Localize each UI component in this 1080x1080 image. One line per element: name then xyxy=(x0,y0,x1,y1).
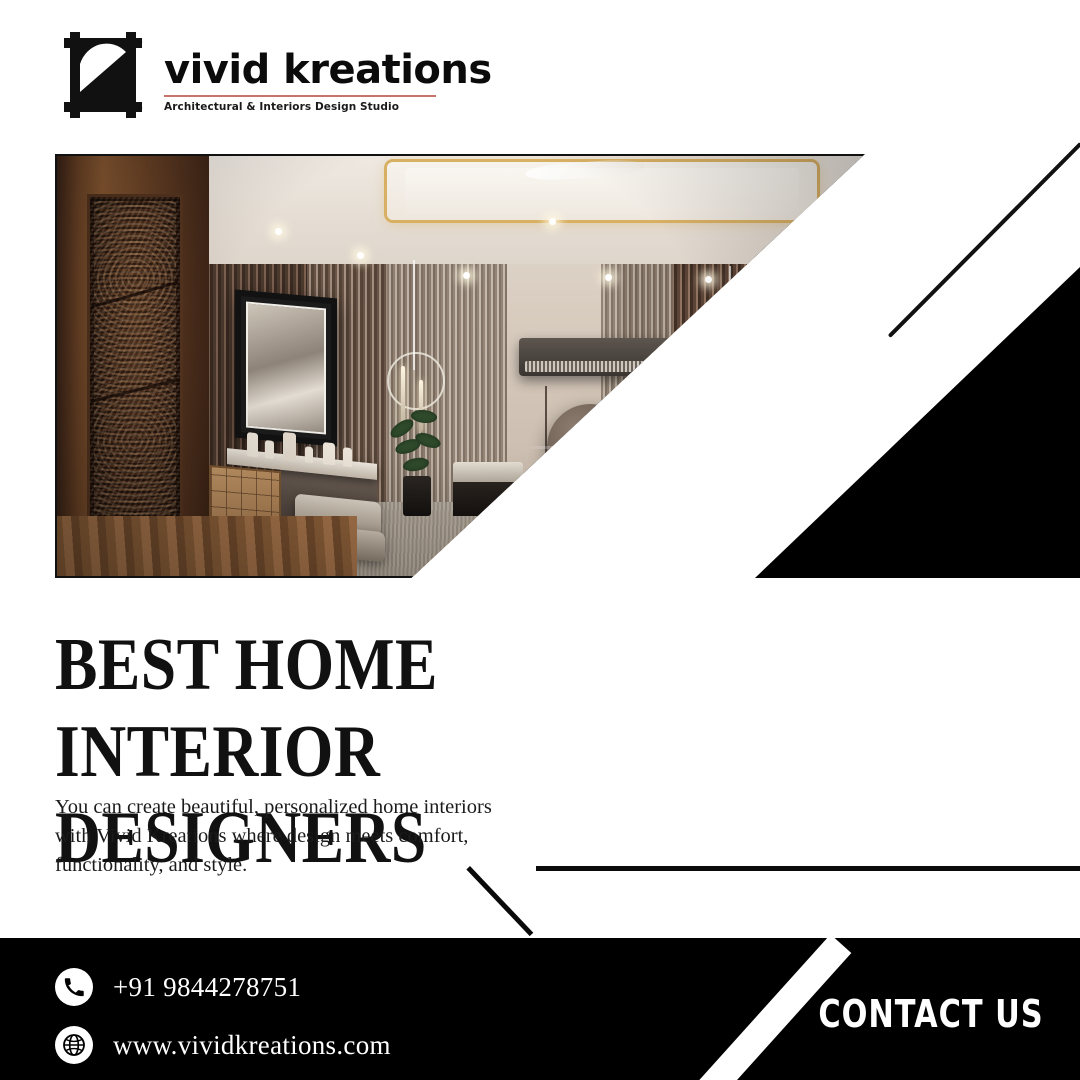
scene-vignette xyxy=(57,156,863,576)
decorative-outline-shape xyxy=(470,866,1080,944)
brand-tagline: Architectural & Interiors Design Studio xyxy=(164,101,492,113)
wall-art-line xyxy=(661,386,663,506)
circular-wall-art-mirror xyxy=(595,408,679,492)
bedroom-render xyxy=(57,156,863,576)
poster-canvas: vivid kreations Architectural & Interior… xyxy=(0,0,1080,1080)
pendant-bar xyxy=(717,372,721,434)
brand-logo[interactable]: vivid kreations Architectural & Interior… xyxy=(56,26,436,130)
pendant-bar xyxy=(735,384,739,432)
contact-details: +91 9844278751 www.vividkreations.com xyxy=(55,964,391,1080)
contact-website-row[interactable]: www.vividkreations.com xyxy=(55,1022,391,1068)
brand-wordmark: vivid kreations Architectural & Interior… xyxy=(164,26,492,113)
pendant-cable xyxy=(729,266,731,374)
phone-icon xyxy=(55,968,93,1006)
globe-icon xyxy=(55,1026,93,1064)
brand-accent-rule xyxy=(164,95,436,97)
brand-name: vivid kreations xyxy=(164,50,492,90)
downlight xyxy=(797,244,804,251)
pendant-ring-right xyxy=(705,356,759,410)
square-frame-circle-logo-icon xyxy=(56,26,154,124)
decorative-thin-diagonal-line xyxy=(886,140,1080,340)
linear-wall-light xyxy=(527,446,697,449)
hero-image xyxy=(55,154,865,578)
phone-number: +91 9844278751 xyxy=(113,972,301,1003)
contact-phone-row[interactable]: +91 9844278751 xyxy=(55,964,391,1010)
footer-bar: +91 9844278751 www.vividkreations.com CO… xyxy=(0,938,1080,1080)
contact-us-cta[interactable]: CONTACT US xyxy=(819,992,1044,1036)
website-url: www.vividkreations.com xyxy=(113,1030,391,1061)
